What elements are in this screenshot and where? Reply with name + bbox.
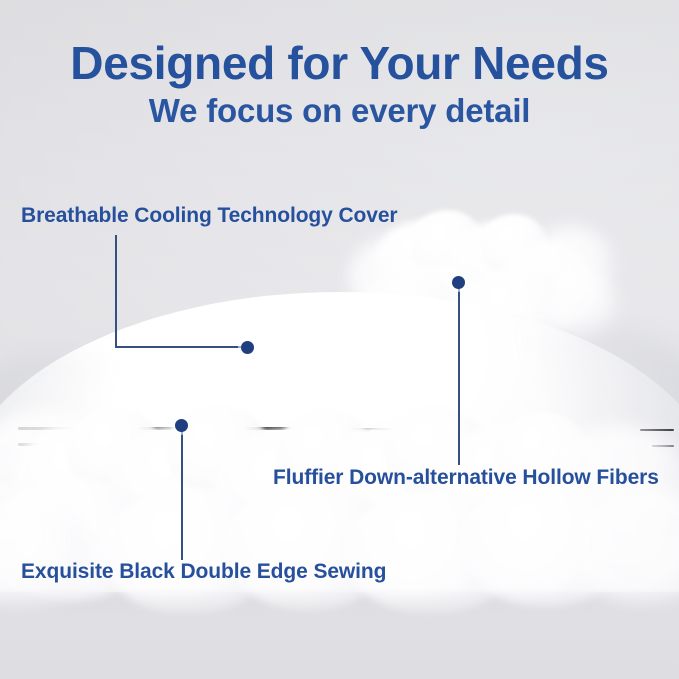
leader-line-sewing [181, 425, 183, 560]
callout-label-fibers: Fluffier Down-alternative Hollow Fibers [273, 466, 659, 490]
leader-line-cover-horizontal [115, 346, 248, 348]
marker-dot-cover [241, 341, 254, 354]
page-subtitle: We focus on every detail [0, 92, 679, 130]
leader-line-cover-vertical [115, 235, 117, 348]
callout-label-cover: Breathable Cooling Technology Cover [21, 204, 398, 228]
marker-dot-fibers [452, 276, 465, 289]
leader-line-fibers [458, 282, 460, 465]
marker-dot-sewing [175, 419, 188, 432]
surface-floor [0, 588, 679, 679]
product-infographic: Designed for Your Needs We focus on ever… [0, 0, 679, 679]
page-title: Designed for Your Needs [0, 36, 679, 90]
callout-label-sewing: Exquisite Black Double Edge Sewing [21, 560, 386, 584]
